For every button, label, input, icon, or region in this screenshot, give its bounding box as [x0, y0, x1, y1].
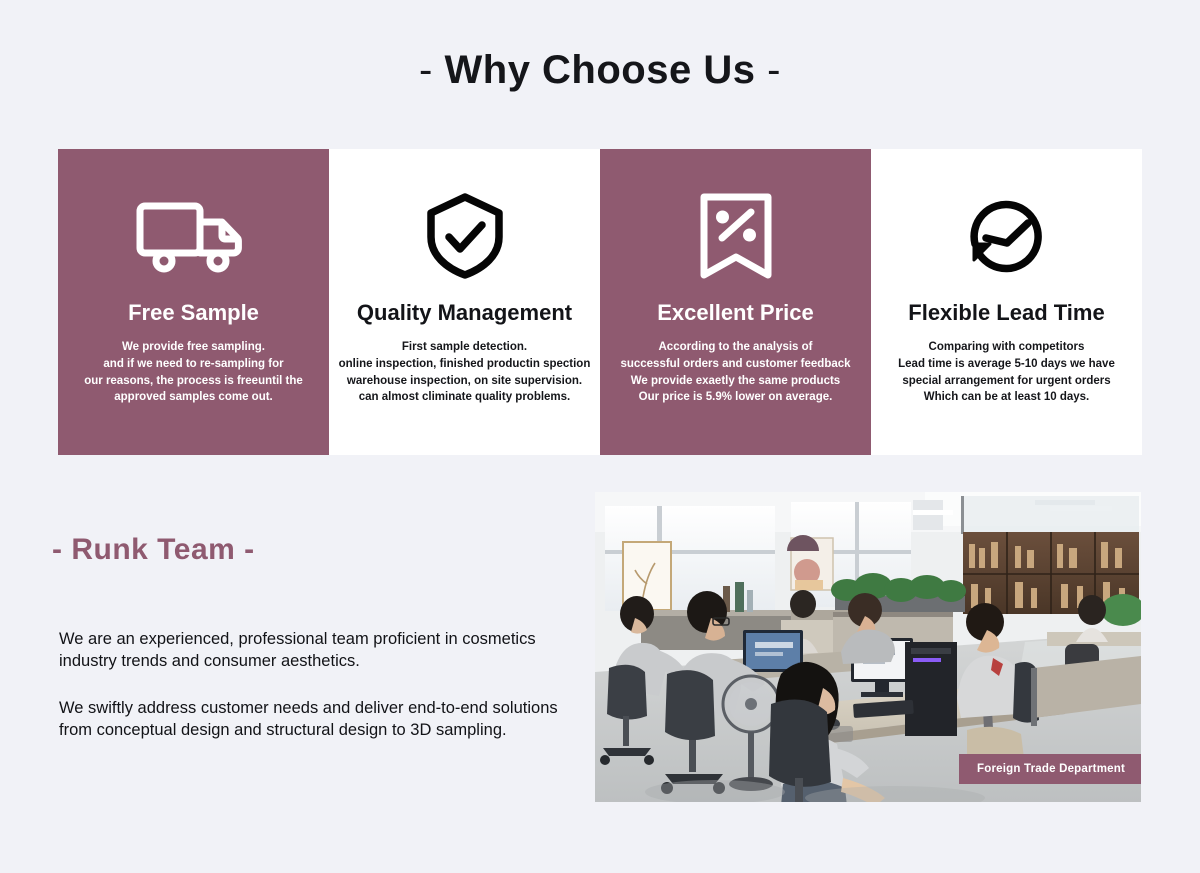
team-title-text: Runk Team [71, 533, 235, 566]
feature-card-excellent-price[interactable]: Excellent Price According to the analysi… [600, 149, 871, 455]
feature-card-title: Quality Management [357, 301, 572, 325]
feature-cards-row: Free Sample We provide free sampling. an… [58, 149, 1142, 455]
photo-caption-badge: Foreign Trade Department [959, 754, 1141, 784]
feature-card-title: Excellent Price [657, 301, 814, 325]
title-dash-left: - [419, 48, 433, 92]
feature-card-flexible-lead-time[interactable]: Flexible Lead Time Comparing with compet… [871, 149, 1142, 455]
title-dash-right: - [767, 48, 781, 92]
office-photo: Foreign Trade Department [595, 492, 1141, 802]
page-title: - Why Choose Us - [0, 48, 1200, 92]
feature-card-description: Comparing with competitors Lead time is … [890, 339, 1123, 406]
feature-card-title: Flexible Lead Time [908, 301, 1104, 325]
discount-tag-icon [696, 193, 776, 279]
feature-card-quality-management[interactable]: Quality Management First sample detectio… [329, 149, 600, 455]
feature-card-description: First sample detection. online inspectio… [331, 339, 599, 406]
feature-card-title: Free Sample [128, 301, 259, 325]
clock-rotate-icon [962, 193, 1052, 279]
page-title-text: Why Choose Us [445, 48, 756, 92]
team-paragraph: We swiftly address customer needs and de… [59, 697, 599, 742]
feature-card-description: We provide free sampling. and if we need… [76, 339, 311, 406]
feature-card-description: According to the analysis of successful … [612, 339, 858, 406]
shield-check-icon [422, 193, 508, 279]
team-title: - Runk Team - [52, 533, 255, 567]
team-dash-right: - [244, 533, 255, 566]
team-dash-left: - [52, 533, 63, 566]
delivery-truck-icon [134, 193, 254, 279]
team-description: We are an experienced, professional team… [59, 628, 599, 765]
feature-card-free-sample[interactable]: Free Sample We provide free sampling. an… [58, 149, 329, 455]
team-paragraph: We are an experienced, professional team… [59, 628, 599, 673]
